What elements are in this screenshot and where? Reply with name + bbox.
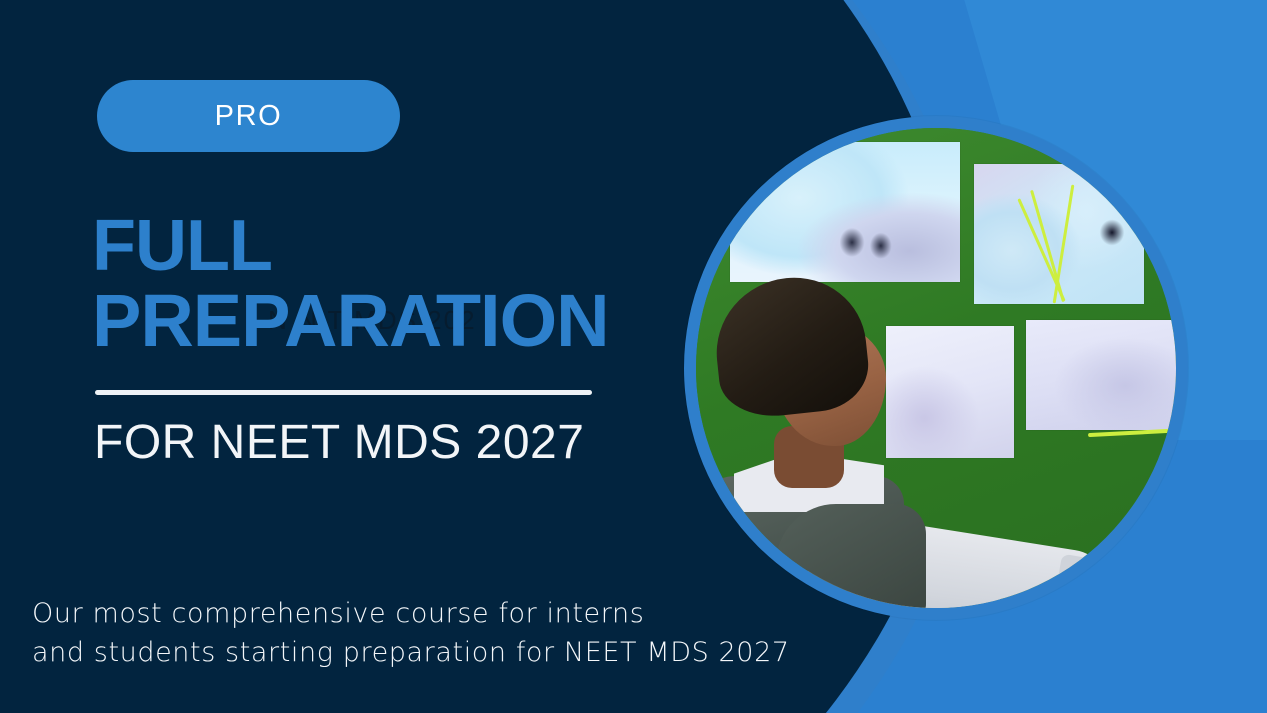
instructor-figure [696, 204, 1086, 608]
instructor-hair [709, 271, 872, 422]
instructor-photo [696, 128, 1176, 608]
title-divider-rule [95, 390, 592, 395]
instructor-shoulder [776, 504, 926, 608]
subheadline: FOR NEET MDS 2027 [94, 415, 584, 470]
page-title: FULL PREPARATION [92, 212, 692, 357]
pro-badge-label: PRO [215, 100, 283, 133]
pro-badge[interactable]: PRO [97, 80, 400, 152]
description-text: Our most comprehensive course for intern… [32, 594, 790, 672]
headline-line-1: FULL [92, 212, 692, 280]
promo-banner: PRO N N T MDS 202 FULL PREPARATION FOR N… [0, 0, 1267, 713]
description-line-2: and students starting preparation for NE… [32, 633, 790, 672]
headline-line-2: PREPARATION [92, 286, 692, 356]
description-line-1: Our most comprehensive course for intern… [32, 594, 790, 633]
